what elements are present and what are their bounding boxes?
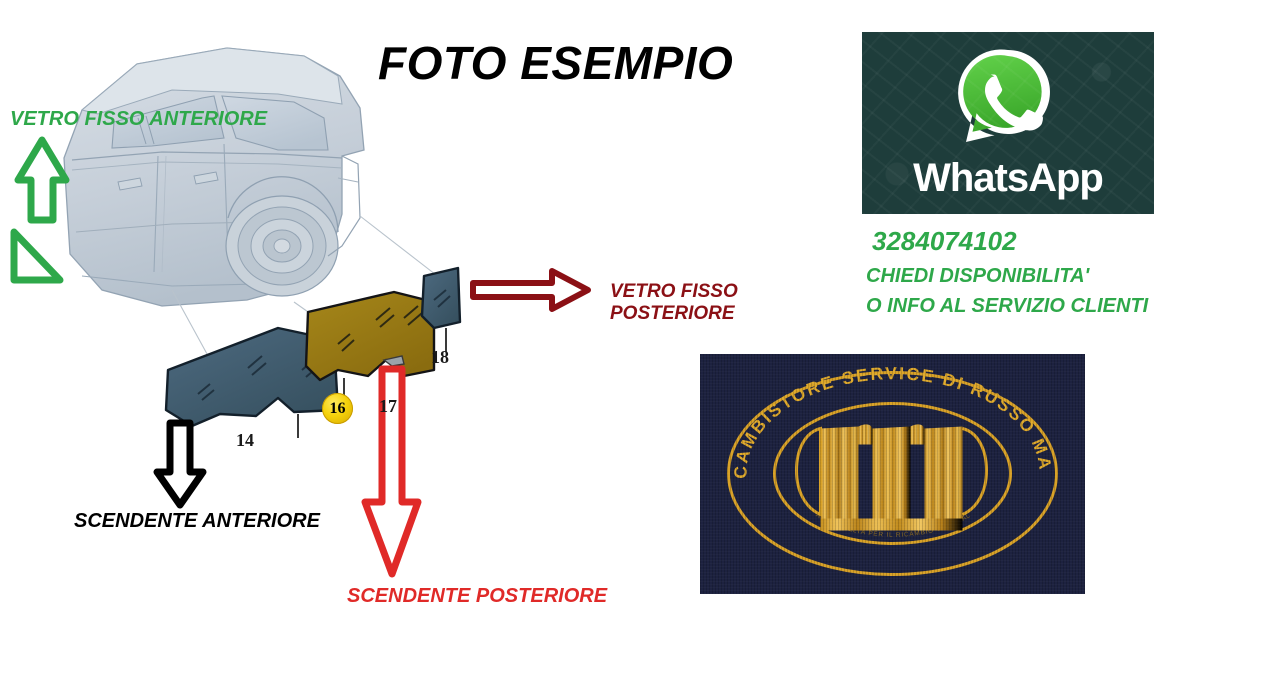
label-front-drop-glass: SCENDENTE ANTERIORE — [74, 510, 320, 534]
up-arrow-green — [4, 134, 80, 286]
shop-logo-monogram — [796, 424, 986, 530]
label-rear-fixed-glass-line1: VETRO FISSO — [610, 281, 738, 303]
car-body-illustration — [64, 48, 364, 306]
contact-phone-number: 3284074102 — [872, 226, 1017, 257]
right-arrow-maroon — [468, 266, 594, 314]
part-number-18: 18 — [431, 347, 449, 368]
shop-logo-banner: MRICAMBISTORE SERVICE DI RUSSO MARCO LA … — [700, 354, 1085, 594]
label-front-fixed-glass: VETRO FISSO ANTERIORE — [10, 108, 267, 132]
page-title: FOTO ESEMPIO — [378, 36, 733, 90]
contact-note-line2: O INFO AL SERVIZIO CLIENTI — [866, 295, 1148, 318]
shop-logo-icon: MRICAMBISTORE SERVICE DI RUSSO MARCO LA … — [720, 367, 1065, 582]
whatsapp-wordmark: WhatsApp — [862, 156, 1154, 201]
down-arrow-black — [150, 418, 210, 510]
label-rear-fixed-glass: VETRO FISSO POSTERIORE — [610, 281, 738, 326]
whatsapp-banner: WhatsApp — [862, 32, 1154, 214]
part-number-16-badge: 16 — [322, 393, 353, 424]
label-rear-fixed-glass-line2: POSTERIORE — [610, 303, 738, 325]
label-rear-drop-glass: SCENDENTE POSTERIORE — [347, 585, 607, 609]
poster-canvas: 14 16 17 18 FOTO ESEMPIO VETRO FISSO ANT… — [0, 0, 1264, 678]
whatsapp-icon — [954, 44, 1062, 152]
part-number-14: 14 — [236, 430, 254, 451]
contact-note-line1: CHIEDI DISPONIBILITA' — [866, 265, 1089, 288]
part-number-17: 17 — [379, 396, 397, 417]
